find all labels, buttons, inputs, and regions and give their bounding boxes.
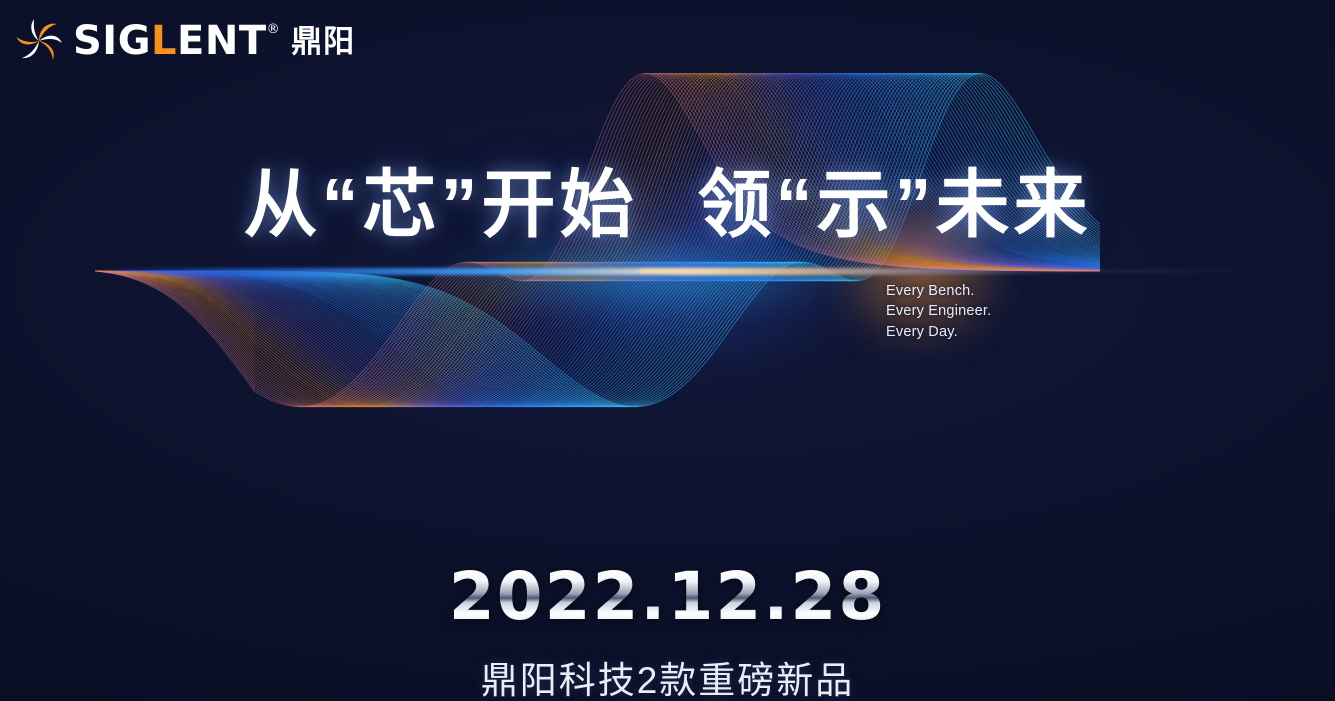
tagline-line-1: Every Bench. (886, 281, 991, 301)
siglent-wordmark: SIGLENT® (73, 21, 280, 61)
tagline-line-2: Every Engineer. (886, 301, 991, 321)
siglent-swirl-icon (14, 16, 64, 66)
launch-date: 2022.12.28 (0, 558, 1335, 635)
wordmark-accent-letter: L (151, 21, 177, 61)
wordmark-suffix: ENT (177, 21, 267, 61)
tagline: Every Bench. Every Engineer. Every Day. (886, 281, 991, 342)
wordmark-prefix: SIG (73, 21, 151, 61)
tagline-line-3: Every Day. (886, 322, 991, 342)
brand-chinese-name: 鼎阳 (291, 26, 355, 57)
wave-baseline-right (640, 269, 1280, 273)
launch-subtitle: 鼎阳科技2款重磅新品 (0, 650, 1335, 701)
banner-stage: SIGLENT® 鼎阳 从“芯”开始 领“示”未来 Every Bench. E… (0, 0, 1335, 701)
siglent-logo[interactable]: SIGLENT® 鼎阳 (14, 16, 355, 66)
registered-trademark-icon: ® (267, 23, 281, 36)
launch-date-text: 2022.12.28 (449, 558, 887, 635)
